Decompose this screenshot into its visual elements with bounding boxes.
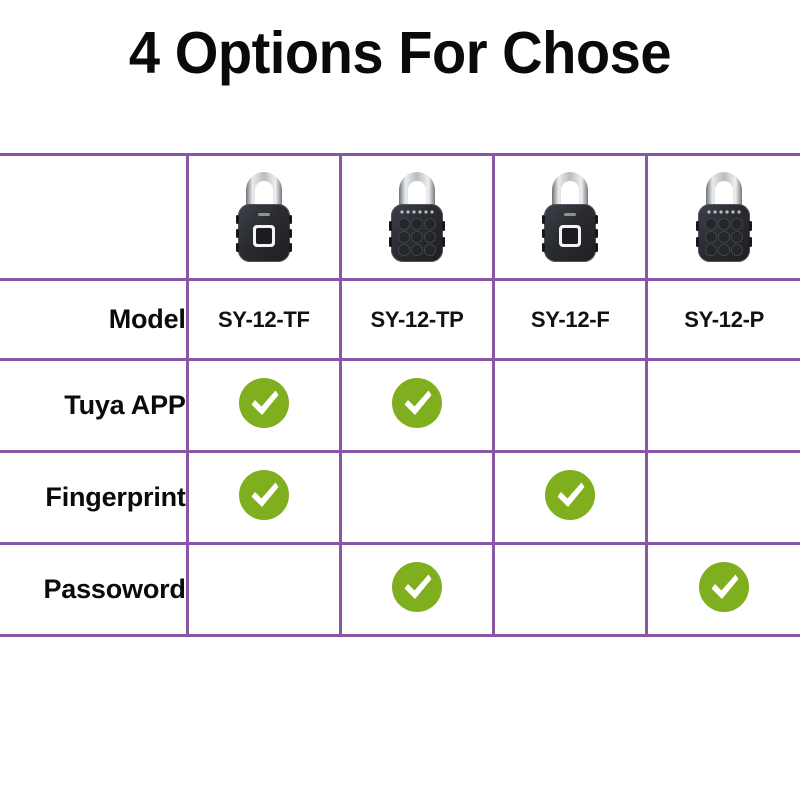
tuya-app-cell-2 (340, 360, 493, 452)
product-photo-cell-1 (187, 155, 340, 280)
fingerprint-cell-2 (340, 452, 493, 544)
password-cell-1 (187, 544, 340, 636)
comparison-page: 4 Options For Chose (0, 0, 800, 800)
row-label-tuya-app: Tuya APP (0, 360, 187, 452)
model-value-4: SY-12-P (647, 280, 800, 360)
product-photo-cell-2 (340, 155, 493, 280)
fingerprint-cell-4 (647, 452, 800, 544)
password-cell-3 (494, 544, 647, 636)
model-value-3: SY-12-F (494, 280, 647, 360)
row-label-model: Model (0, 280, 187, 360)
tuya-app-cell-3 (494, 360, 647, 452)
green-check-icon (391, 561, 443, 618)
model-value-2: SY-12-TP (340, 280, 493, 360)
row-label-password: Passoword (0, 544, 187, 636)
row-label-fingerprint: Fingerprint (0, 452, 187, 544)
padlock-fingerprint-icon (225, 163, 303, 272)
row-label-photos (0, 155, 187, 280)
table-row-photos (0, 155, 800, 280)
table-row-password: Passoword (0, 544, 800, 636)
options-comparison-table: Model SY-12-TF SY-12-TP SY-12-F SY-12-P … (0, 153, 800, 637)
green-check-icon (698, 561, 750, 618)
page-title: 4 Options For Chose (20, 18, 780, 88)
green-check-icon (238, 469, 290, 526)
padlock-fingerprint-icon (531, 163, 609, 272)
fingerprint-cell-3 (494, 452, 647, 544)
table-row-tuya-app: Tuya APP (0, 360, 800, 452)
tuya-app-cell-1 (187, 360, 340, 452)
green-check-icon (391, 377, 443, 434)
password-cell-4 (647, 544, 800, 636)
product-photo-cell-4 (647, 155, 800, 280)
tuya-app-cell-4 (647, 360, 800, 452)
fingerprint-cell-1 (187, 452, 340, 544)
product-photo-cell-3 (494, 155, 647, 280)
table-row-fingerprint: Fingerprint (0, 452, 800, 544)
padlock-keypad-icon (378, 163, 456, 272)
green-check-icon (544, 469, 596, 526)
green-check-icon (238, 377, 290, 434)
padlock-keypad-icon (685, 163, 763, 272)
model-value-1: SY-12-TF (187, 280, 340, 360)
password-cell-2 (340, 544, 493, 636)
table-row-model: Model SY-12-TF SY-12-TP SY-12-F SY-12-P (0, 280, 800, 360)
